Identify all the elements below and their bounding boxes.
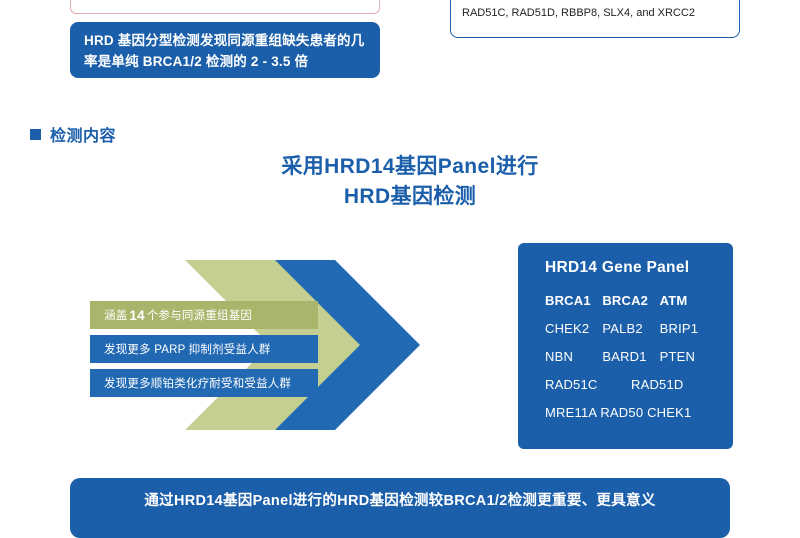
gene-cell: RAD51D [631,377,684,392]
gene-cell: PTEN [660,349,717,364]
gene-cell: PALB2 [602,321,659,336]
page-title: 采用HRD14基因Panel进行 HRD基因检测 [200,152,620,213]
chart-card: 同源重组功能正常 Allelic imbalance loss 7% 可能为同源… [70,0,380,14]
gene-cell: BRCA1 [545,293,602,308]
gene-cell: BRIP1 [660,321,717,336]
gene-panel-card: HRD14 Gene Panel BRCA1 BRCA2 ATM CHEK2 P… [518,243,733,449]
gene-cell: BARD1 [602,349,659,364]
page-title-line1: 采用HRD14基因Panel进行 [200,152,620,182]
hrd-callout-box: HRD 基因分型检测发现同源重组缺失患者的几率是单纯 BRCA1/2 检测的 2… [70,22,380,78]
gene-cell: CHEK2 [545,321,602,336]
gene-cell: MRE11A RAD50 CHEK1 [545,405,717,420]
arrow-bar-1: 涵盖 14 个参与同源重组基因 [90,301,318,329]
page-title-line2: HRD基因检测 [200,182,620,212]
arrow-bar-2-label: 发现更多 PARP 抑制剂受益人群 [104,341,271,357]
gene-cell: BRCA2 [602,293,659,308]
square-bullet-icon [30,129,41,140]
gene-panel-row: NBN BARD1 PTEN [518,349,733,364]
arrow-diagram: 涵盖 14 个参与同源重组基因 发现更多 PARP 抑制剂受益人群 发现更多顺铂… [90,240,480,450]
gene-panel-row: RAD51C RAD51D [518,377,733,392]
arrow-bar-3: 发现更多顺铂类化疗耐受和受益人群 [90,369,318,397]
hr-repair-gene-list: ATM, ATR, BARD1, BLM, BRCA1, BRCA2, BRIP… [462,0,723,19]
gene-panel-row: CHEK2 PALB2 BRIP1 [518,321,733,336]
section-heading: 检测内容 [30,122,116,146]
gene-cell: NBN [545,349,602,364]
gene-panel-row: MRE11A RAD50 CHEK1 [518,405,733,420]
arrow-bar-3-label: 发现更多顺铂类化疗耐受和受益人群 [104,375,291,391]
section-heading-label: 检测内容 [50,122,116,146]
gene-panel-row: BRCA1 BRCA2 ATM [518,293,733,308]
arrow-bar-1-suffix: 个参与同源重组基因 [147,307,252,323]
gene-panel-title: HRD14 Gene Panel [518,259,733,277]
arrow-bar-1-number: 14 [127,308,146,323]
arrow-bar-1-prefix: 涵盖 [104,307,127,323]
hr-repair-gene-box: 同源重组修复基因: ATM, ATR, BARD1, BLM, BRCA1, B… [450,0,740,38]
gene-cell: RAD51C [545,377,631,392]
gene-cell: ATM [660,293,717,308]
arrow-bar-2: 发现更多 PARP 抑制剂受益人群 [90,335,318,363]
bottom-summary-bar: 通过HRD14基因Panel进行的HRD基因检测较BRCA1/2检测更重要、更具… [70,478,730,538]
